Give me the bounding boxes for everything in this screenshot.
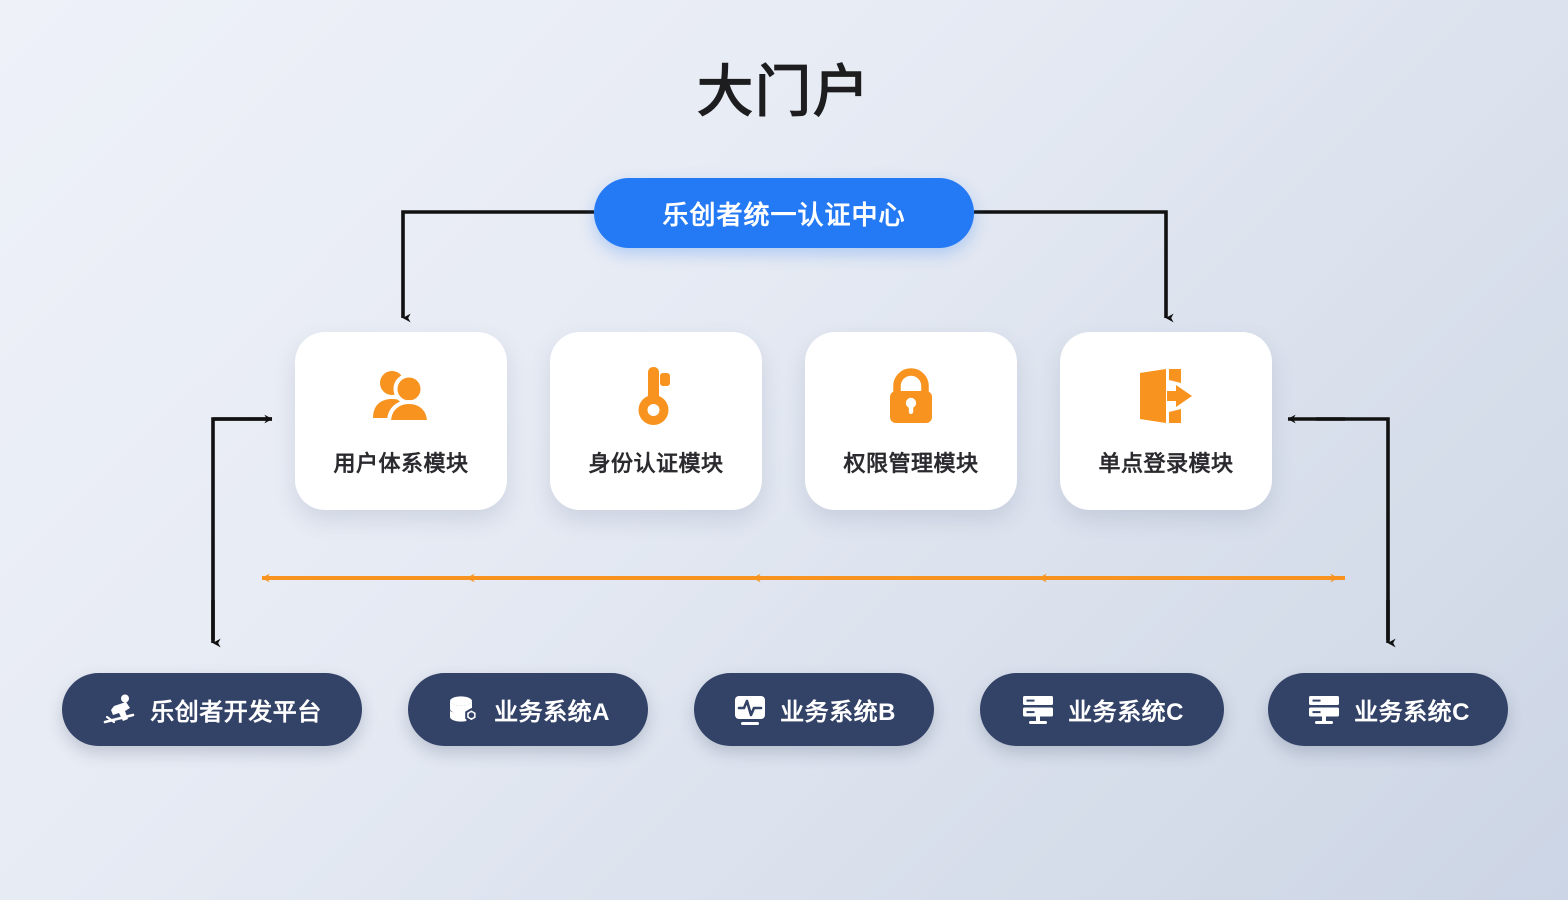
skier-icon	[102, 692, 138, 728]
module-card-identity-auth[interactable]: 身份认证模块	[550, 332, 762, 510]
wire-right-outer-down	[1316, 419, 1388, 640]
lock-icon	[879, 364, 943, 428]
system-pill-business-b[interactable]: 业务系统B	[694, 673, 934, 746]
system-pill-label: 业务系统C	[1068, 692, 1184, 727]
diagram-canvas: 大门户 乐创者统一认证中心 用户体系模块 身份认证模块	[0, 0, 1568, 900]
system-pill-label: 业务系统C	[1354, 692, 1470, 727]
page-title: 大门户	[0, 58, 1568, 126]
sso-login-icon	[1134, 364, 1198, 428]
key-icon	[624, 364, 688, 428]
system-pill-business-a[interactable]: 业务系统A	[408, 673, 648, 746]
module-card-label: 用户体系模块	[333, 446, 468, 478]
module-card-label: 权限管理模块	[843, 446, 978, 478]
wire-auth-to-sso-module	[974, 212, 1166, 318]
system-pill-dev-platform[interactable]: 乐创者开发平台	[62, 673, 362, 746]
monitor-pulse-icon	[732, 692, 768, 728]
server-icon	[1306, 692, 1342, 728]
auth-center-label: 乐创者统一认证中心	[662, 195, 905, 232]
database-gear-icon	[446, 692, 482, 728]
system-pill-label: 乐创者开发平台	[150, 692, 322, 727]
connector-layer	[0, 0, 1568, 900]
server-icon	[1020, 692, 1056, 728]
system-pill-label: 业务系统A	[494, 692, 610, 727]
module-card-permission[interactable]: 权限管理模块	[805, 332, 1017, 510]
wire-auth-to-user-module	[403, 212, 594, 318]
system-pill-business-c-1[interactable]: 业务系统C	[980, 673, 1224, 746]
auth-center-node[interactable]: 乐创者统一认证中心	[594, 178, 974, 248]
module-card-label: 单点登录模块	[1098, 446, 1233, 478]
system-pill-label: 业务系统B	[780, 692, 896, 727]
system-pill-business-c-2[interactable]: 业务系统C	[1268, 673, 1508, 746]
module-card-label: 身份认证模块	[588, 446, 723, 478]
module-card-sso[interactable]: 单点登录模块	[1060, 332, 1272, 510]
users-icon	[369, 364, 433, 428]
wire-left-outer-down	[213, 419, 272, 640]
module-card-user-system[interactable]: 用户体系模块	[295, 332, 507, 510]
